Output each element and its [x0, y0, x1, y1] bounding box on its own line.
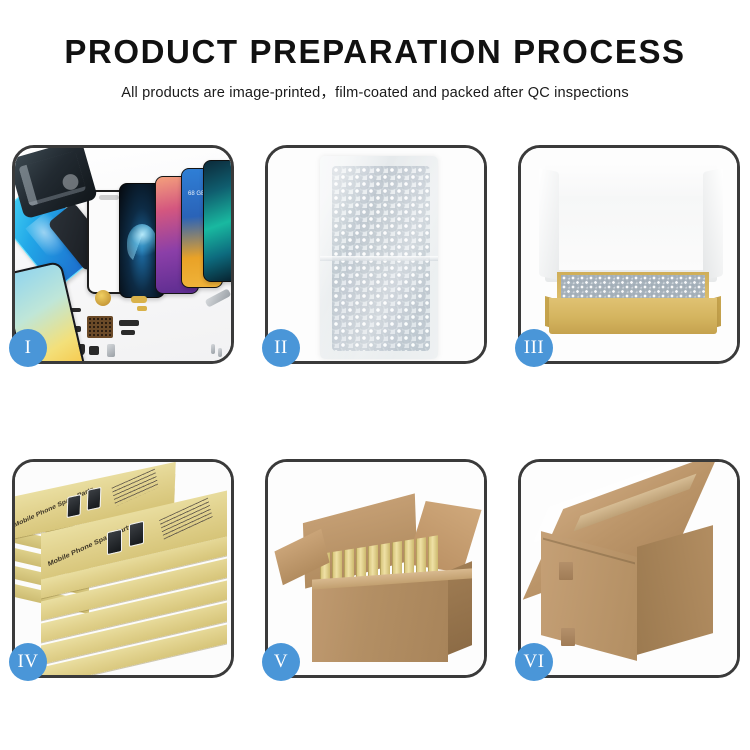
- carton-tab-upper: [559, 562, 573, 580]
- bubble-wrap-pouch: [320, 156, 438, 359]
- panel-3-image: [521, 148, 737, 361]
- carton-front-face: [312, 580, 448, 662]
- process-step-panel-5[interactable]: V: [265, 459, 487, 678]
- box-lid-inner-face: [559, 196, 705, 270]
- part-shield-mesh: [87, 316, 113, 338]
- sealed-carton-right-face: [637, 525, 713, 655]
- carton-tab-lower: [561, 628, 575, 646]
- part-sim-tray: [107, 344, 115, 357]
- process-step-panel-2[interactable]: II: [265, 145, 487, 364]
- retail-box-phone-img-2b: [129, 521, 144, 547]
- part-screw-2: [218, 348, 222, 357]
- page-subtitle: All products are image-printed，film-coat…: [0, 81, 750, 102]
- retail-box-stack: Mobile Phone Spare Parts Mobile Phone Sp…: [15, 462, 231, 675]
- teal-wave-phone: [203, 160, 231, 282]
- pouch-plastic-sheen: [320, 156, 438, 359]
- process-step-panel-4[interactable]: Mobile Phone Spare Parts Mobile Phone Sp…: [12, 459, 234, 678]
- panel-6-image: [521, 462, 737, 675]
- process-step-grid: 68 GB: [12, 145, 738, 678]
- product-preparation-infographic: PRODUCT PREPARATION PROCESS All products…: [0, 0, 750, 750]
- step-badge-1: I: [9, 329, 47, 367]
- retail-box-spec-lines-2: [159, 498, 213, 541]
- box-lid-right-flap: [703, 168, 723, 280]
- panel-5-image: [268, 462, 484, 675]
- part-connector-4: [121, 330, 135, 335]
- part-connector-3: [119, 320, 139, 326]
- step-badge-4: IV: [9, 643, 47, 681]
- retail-box-spec-lines-1: [112, 469, 159, 507]
- process-step-panel-3[interactable]: III: [518, 145, 740, 364]
- part-flex-cable-1: [131, 296, 147, 303]
- process-step-panel-6[interactable]: VI: [518, 459, 740, 678]
- part-ic-chip: [89, 346, 99, 355]
- panel-1-image: 68 GB: [15, 148, 231, 361]
- header: PRODUCT PREPARATION PROCESS All products…: [0, 0, 750, 102]
- step-badge-5: V: [262, 643, 300, 681]
- retail-box-label-1: Mobile Phone Spare Parts: [15, 486, 94, 529]
- process-step-panel-1[interactable]: 68 GB: [12, 145, 234, 364]
- bubble-wrapped-contents: [561, 275, 705, 299]
- step-badge-2: II: [262, 329, 300, 367]
- step-badge-3: III: [515, 329, 553, 367]
- page-title: PRODUCT PREPARATION PROCESS: [0, 34, 750, 70]
- part-speaker-coil: [95, 290, 111, 306]
- step-badge-6: VI: [515, 643, 553, 681]
- kraft-tray-front-panel: [549, 298, 717, 334]
- part-flex-cable-2: [137, 306, 147, 311]
- panel-4-image: Mobile Phone Spare Parts Mobile Phone Sp…: [15, 462, 231, 675]
- retail-box-phone-img-1b: [87, 487, 102, 511]
- panel-2-image: [268, 148, 484, 361]
- retail-box-phone-img-2a: [107, 529, 122, 555]
- box-lid-left-flap: [539, 168, 559, 280]
- part-screw-1: [211, 344, 215, 354]
- retail-box-phone-img-1a: [67, 494, 82, 518]
